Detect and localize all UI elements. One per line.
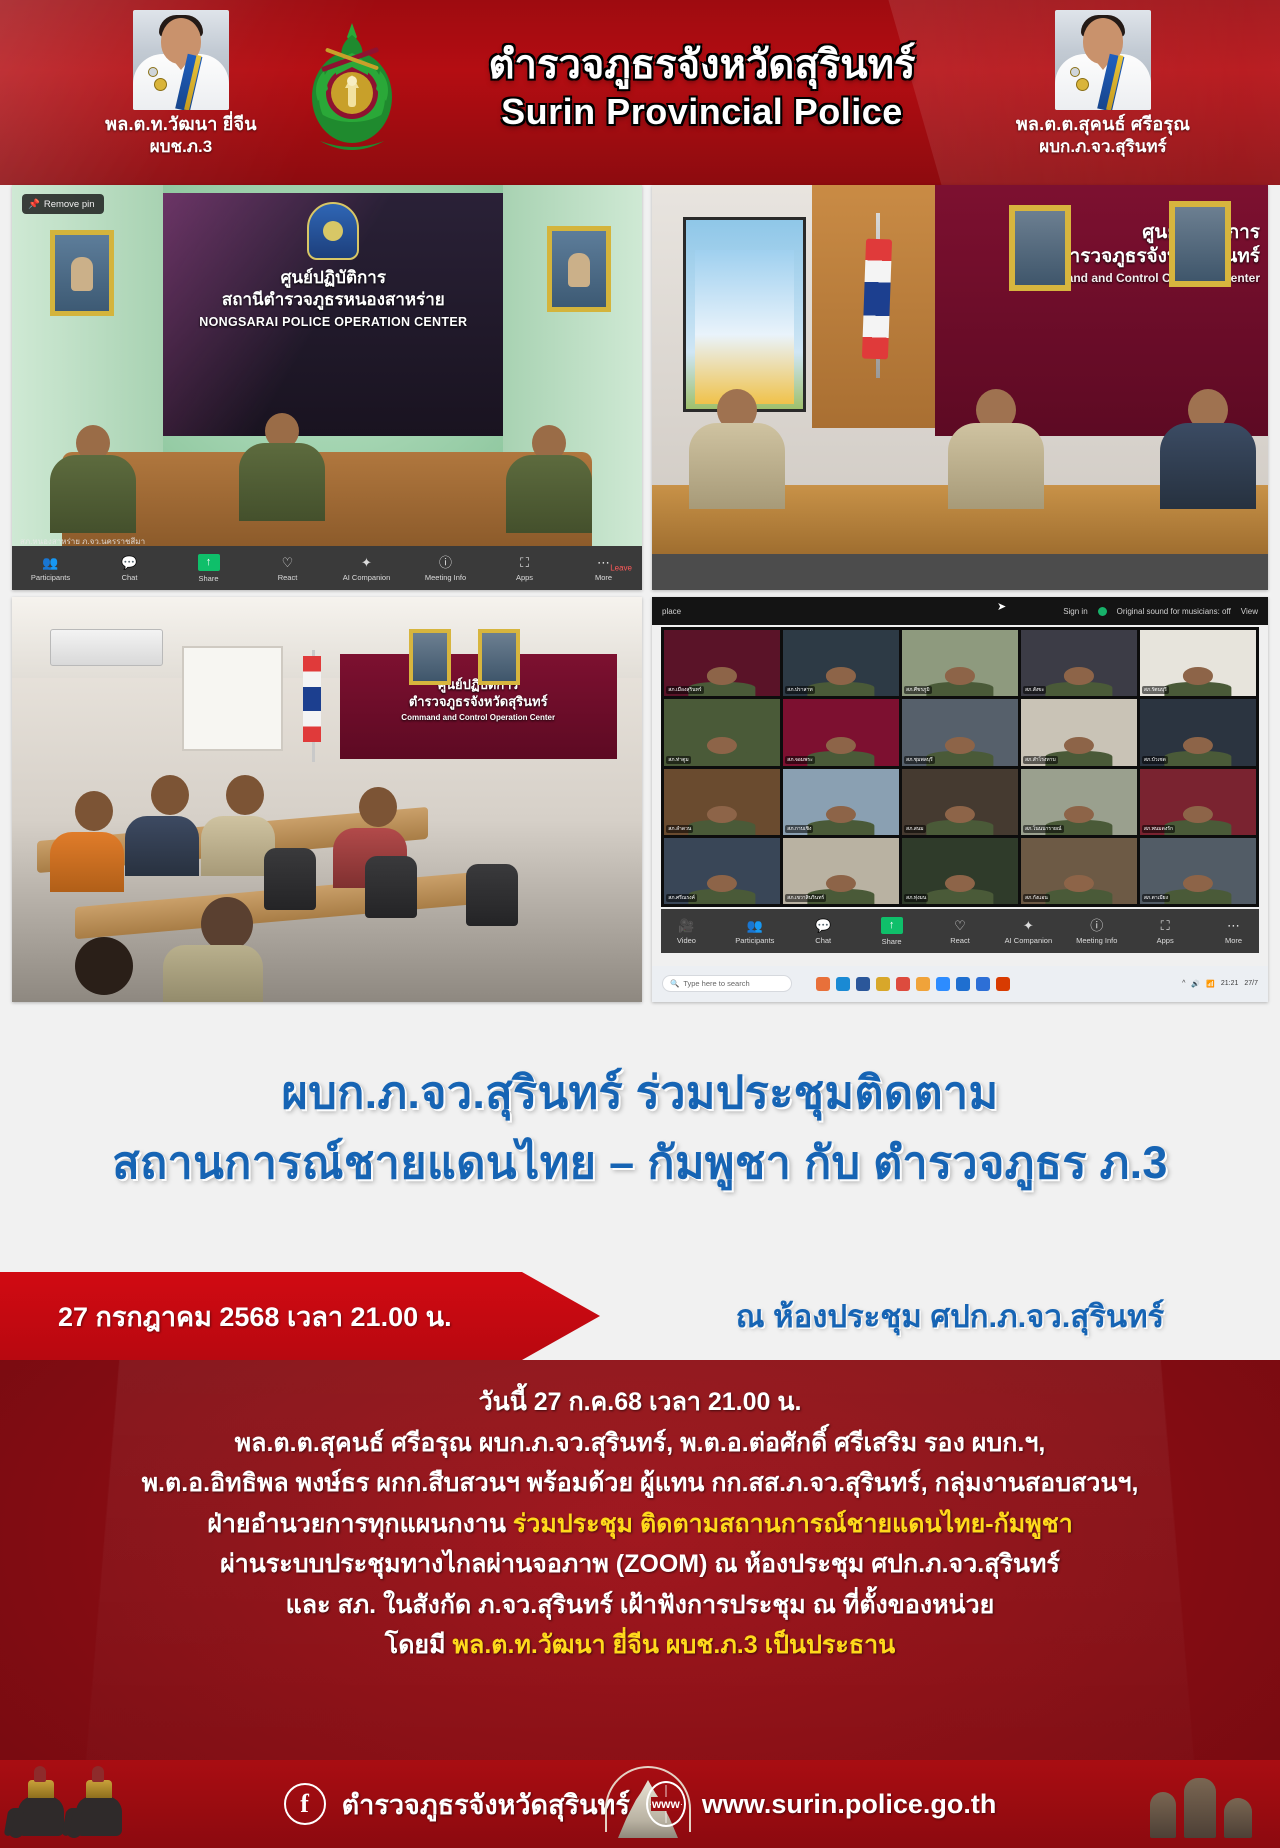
org-title-thai: ตำรวจภูธรจังหวัดสุรินทร์ (424, 43, 980, 88)
officer-portrait-icon-right (1055, 10, 1151, 110)
nongsarai-screen-title-en: NONGSARAI POLICE OPERATION CENTER (163, 314, 503, 330)
zoom-toolbar-label: Apps (1140, 936, 1190, 945)
remove-pin-label: Remove pin (44, 199, 95, 210)
zoom-chat-button[interactable]: 💬Chat (798, 917, 848, 945)
heart-react-icon: ♡ (263, 554, 312, 570)
zoom-participants-button[interactable]: 👥 Participants (26, 554, 75, 582)
zoom-participant-tile[interactable]: สภ.สำโรงทาบ (1021, 699, 1137, 765)
zoom-participant-tile[interactable]: สภ.ศรีณรงค์ (664, 838, 780, 904)
zoom-toolbar-top-left: 👥 Participants 💬 Chat ↑ Share ♡ React ✦ (12, 546, 642, 590)
zoom-video-button[interactable]: 🎥Video (661, 917, 711, 945)
ai-sparkle-icon: ✦ (342, 554, 391, 570)
zoom-window-label: place (662, 607, 681, 616)
photo-bottom-left: ศูนย์ปฏิบัติการ ตำรวจภูธรจังหวัดสุรินทร์… (12, 597, 642, 1002)
main-title-line-1: ผบก.ภ.จว.สุรินทร์ ร่วมประชุมติดตาม (0, 1058, 1280, 1128)
taskbar-app-icon[interactable] (836, 977, 850, 991)
audio-status-icon (1098, 607, 1107, 616)
zoom-participant-name: สภ.บัวเชด (1142, 756, 1168, 764)
zoom-view-button[interactable]: View (1241, 607, 1258, 616)
taskbar-app-icon[interactable] (956, 977, 970, 991)
remove-pin-button[interactable]: 📌 Remove pin (22, 194, 104, 214)
share-screen-icon: ↑ (198, 554, 220, 571)
zoom-toolbar-label: Share (866, 937, 916, 946)
royal-portrait-frame-icon (478, 629, 520, 685)
zoom-chat-button[interactable]: 💬 Chat (105, 554, 154, 582)
zoom-participant-name: สภ.ศีขรภูมิ (904, 686, 932, 694)
taskbar-date: 27/7 (1244, 980, 1258, 987)
chevron-up-icon[interactable]: ^ (1182, 980, 1185, 987)
body-line-prefix: โดยมี (385, 1631, 453, 1659)
zoom-participant-tile[interactable]: สภ.กังแอน (1021, 838, 1137, 904)
zoom-participant-name: สภ.ปราสาท (785, 686, 815, 694)
zoom-participant-name: สภ.พนมดงรัก (1142, 825, 1175, 833)
main-title-block: ผบก.ภ.จว.สุรินทร์ ร่วมประชุมติดตาม สถานก… (0, 1030, 1280, 1260)
main-title-line-2: สถานการณ์ชายแดนไทย – กัมพูชา กับ ตำรวจภู… (0, 1128, 1280, 1198)
info-circle-icon: ⓘ (421, 554, 470, 570)
globe-www-icon: www (646, 1781, 686, 1827)
officer-portrait-icon-left (133, 10, 229, 110)
date-time-text: 27 กรกฎาคม 2568 เวลา 21.00 น. (0, 1295, 452, 1338)
zoom-meeting-info-button[interactable]: ⓘ Meeting Info (421, 554, 470, 582)
zoom-share-button[interactable]: ↑ Share (184, 554, 233, 583)
volume-icon[interactable]: 🔊 (1191, 980, 1200, 988)
wall-portrait-icon (50, 230, 114, 316)
right-officer-block: พล.ต.ต.สุคนธ์ ศรีอรุณ ผบก.ภ.จว.สุรินทร์ (978, 10, 1228, 157)
whiteboard-icon (182, 646, 283, 751)
royal-thai-police-garuda-crest-icon (300, 13, 404, 163)
www-label: www (651, 1797, 681, 1811)
thai-flag-icon (861, 221, 895, 371)
zoom-participant-tile[interactable]: สภ.เมืองสุรินทร์ (664, 630, 780, 696)
pin-icon: 📌 (28, 199, 40, 210)
zoom-participant-tile[interactable]: สภ.สังขะ (1021, 630, 1137, 696)
ai-sparkle-icon: ✦ (1003, 917, 1053, 933)
room-wall-title-en: Command and Control Operation Center (340, 713, 617, 723)
heart-react-icon: ♡ (935, 917, 985, 933)
nongsarai-screen-title-2: สถานีตำรวจภูธรหนองสาหร่าย (163, 289, 503, 311)
zoom-participant-tile[interactable]: สภ.เขวาสินรินทร์ (783, 838, 899, 904)
zoom-apps-button[interactable]: ⛶Apps (1140, 917, 1190, 945)
zoom-participant-name: สภ.กังแอน (1023, 894, 1050, 902)
khmer-ruins-icon (1146, 1766, 1266, 1842)
photo-bottom-right: place ➤ Sign in Original sound for music… (652, 597, 1268, 1002)
zoom-participant-name: สภ.ตาเมียง (1142, 894, 1170, 902)
body-line-prefix: ฝ่ายอำนวยการทุกแผนกงาน (207, 1510, 513, 1538)
zoom-more-button[interactable]: ⋯More (1208, 917, 1258, 945)
zoom-toolbar-bottom-right: 🎥Video👥Participants💬Chat↑Share♡React✦AI … (661, 909, 1259, 954)
apps-icon: ⛶ (1140, 917, 1190, 933)
search-icon: 🔍 (670, 979, 679, 988)
poster-root: พล.ต.ท.วัฒนา ยี่จีน ผบช.ภ.3 (0, 0, 1280, 1848)
taskbar-zoom-icon[interactable] (936, 977, 950, 991)
zoom-participant-tile[interactable]: สภ.โนนนารายณ์ (1021, 769, 1137, 835)
date-banner: 27 กรกฎาคม 2568 เวลา 21.00 น. ณ ห้องประช… (0, 1272, 1280, 1360)
facebook-circle-icon[interactable]: f (284, 1783, 326, 1825)
royal-portrait-frame-icon (1009, 205, 1071, 291)
more-dots-icon: ⋯ (1208, 917, 1258, 933)
zoom-participant-name: สภ.สำโรงทาบ (1023, 756, 1058, 764)
facebook-page-label: ตำรวจภูธรจังหวัดสุรินทร์ (342, 1783, 630, 1826)
zoom-toolbar-label: Participants (730, 936, 780, 945)
zoom-participant-name: สภ.ศรีณรงค์ (666, 894, 697, 902)
zoom-participant-tile[interactable]: สภ.ปราสาท (783, 630, 899, 696)
surin-elephants-icon (14, 1766, 144, 1842)
left-officer-name: พล.ต.ท.วัฒนา ยี่จีน (56, 114, 306, 136)
body-line-3: พ.ต.อ.อิทธิพล พงษ์ธร ผกก.สืบสวนฯ พร้อมด้… (0, 1463, 1280, 1504)
chat-icon: 💬 (798, 917, 848, 933)
video-camera-icon: 🎥 (661, 917, 711, 933)
zoom-participant-name: สภ.รัตนบุรี (1142, 686, 1169, 694)
date-chip: 27 กรกฎาคม 2568 เวลา 21.00 น. (0, 1272, 600, 1360)
nongsarai-screen-title-1: ศูนย์ปฏิบัติการ (163, 267, 503, 289)
zoom-participant-tile[interactable]: สภ.ลำดวน (664, 769, 780, 835)
taskbar-clock: 21:21 (1221, 980, 1239, 987)
zoom-participant-tile[interactable]: สภ.ท่าตูม (664, 699, 780, 765)
zoom-toolbar-label: More (1208, 936, 1258, 945)
zoom-react-button[interactable]: ♡React (935, 917, 985, 945)
taskbar-app-icons (816, 977, 1010, 991)
royal-portrait-frame-icon (409, 629, 451, 685)
zoom-participant-tile[interactable]: สภ.ชุมพลบุรี (902, 699, 1018, 765)
header-center: ตำรวจภูธรจังหวัดสุรินทร์ Surin Provincia… (300, 8, 980, 168)
zoom-participant-name: สภ.ท่าตูม (666, 756, 690, 764)
right-officer-rank: ผบก.ภ.จว.สุรินทร์ (978, 136, 1228, 157)
photo-grid: ศูนย์ปฏิบัติการ สถานีตำรวจภูธรหนองสาหร่า… (12, 185, 1268, 1015)
photo-top-right: ศูนย์ปฏิบัติการ ตำรวจภูธรจังหวัดสุรินทร์… (652, 185, 1268, 590)
room-wall-title-2: ตำรวจภูธรจังหวัดสุรินทร์ (340, 694, 617, 711)
body-red-section: วันนี้ 27 ก.ค.68 เวลา 21.00 น.พล.ต.ต.สุค… (0, 1360, 1280, 1760)
zoom-participant-tile[interactable]: สภ.บัวเชด (1140, 699, 1256, 765)
zoom-apps-button[interactable]: ⛶ Apps (500, 554, 549, 582)
zoom-participant-tile[interactable]: สภ.สนม (902, 769, 1018, 835)
apps-icon: ⛶ (500, 554, 549, 570)
zoom-participant-tile[interactable]: สภ.พนมดงรัก (1140, 769, 1256, 835)
zoom-participant-name: สภ.โนนนารายณ์ (1023, 825, 1064, 833)
zoom-participant-name: สภ.สนม (904, 825, 926, 833)
info-circle-icon: ⓘ (1072, 917, 1122, 933)
zoom-leave-button[interactable]: Leave (610, 564, 632, 573)
body-line-4: ฝ่ายอำนวยการทุกแผนกงาน ร่วมประชุม ติดตาม… (0, 1504, 1280, 1545)
body-line-5: ผ่านระบบประชุมทางไกลผ่านจอภาพ (ZOOM) ณ ห… (0, 1544, 1280, 1585)
taskbar-search-input[interactable]: 🔍 Type here to search (662, 975, 792, 992)
location-text: ณ ห้องประชุม ศปก.ภ.จว.สุรินทร์ (620, 1272, 1280, 1360)
police-badge-icon (307, 202, 359, 260)
zoom-participant-name: สภ.สังขะ (1023, 686, 1046, 694)
body-line-7: โดยมี พล.ต.ท.วัฒนา ยี่จีน ผบช.ภ.3 เป็นปร… (0, 1625, 1280, 1666)
zoom-participant-name: สภ.ชุมพลบุรี (904, 756, 935, 764)
zoom-participant-name: สภ.เมืองสุรินทร์ (666, 686, 703, 694)
zoom-audio-label: Original sound for musicians: off (1117, 607, 1231, 616)
body-line-1: วันนี้ 27 ก.ค.68 เวลา 21.00 น. (0, 1382, 1280, 1423)
left-officer-rank: ผบช.ภ.3 (56, 136, 306, 157)
wall-poster-icon (695, 250, 794, 404)
wall-portrait-icon (547, 226, 611, 312)
chat-icon: 💬 (105, 554, 154, 570)
taskbar-app-icon[interactable] (816, 977, 830, 991)
zoom-toolbar-label: AI Companion (1003, 936, 1053, 945)
share-screen-icon: ↑ (881, 917, 903, 934)
body-line-highlight: พล.ต.ท.วัฒนา ยี่จีน ผบช.ภ.3 เป็นประธาน (453, 1631, 896, 1659)
zoom-toolbar-label: Video (661, 936, 711, 945)
taskbar-system-tray[interactable]: ^ 🔊 📶 21:21 27/7 (1182, 980, 1258, 988)
body-line-6: และ สภ. ในสังกัด ภ.จว.สุรินทร์ เฝ้าฟังกา… (0, 1585, 1280, 1626)
zoom-share-button[interactable]: ↑Share (866, 917, 916, 946)
body-lines: วันนี้ 27 ก.ค.68 เวลา 21.00 น.พล.ต.ต.สุค… (0, 1360, 1280, 1666)
zoom-participant-tile[interactable]: สภ.ศีขรภูมิ (902, 630, 1018, 696)
taskbar-app-icon[interactable] (896, 977, 910, 991)
zoom-participant-tile[interactable]: สภ.รัตนบุรี (1140, 630, 1256, 696)
zoom-participant-tile[interactable]: สภ.ทุ่งมน (902, 838, 1018, 904)
mouse-cursor-icon: ➤ (997, 600, 1006, 613)
network-icon[interactable]: 📶 (1206, 980, 1215, 988)
right-officer-name: พล.ต.ต.สุคนธ์ ศรีอรุณ (978, 114, 1228, 136)
zoom-participant-name: สภ.กาบเชิง (785, 825, 813, 833)
photo-top-left: ศูนย์ปฏิบัติการ สถานีตำรวจภูธรหนองสาหร่า… (12, 185, 642, 590)
zoom-toolbar-label: Meeting Info (1072, 936, 1122, 945)
body-line-highlight: ร่วมประชุม ติดตามสถานการณ์ชายแดนไทย-กัมพ… (513, 1510, 1073, 1538)
taskbar-search-placeholder: Type here to search (683, 979, 749, 988)
zoom-participants-button[interactable]: 👥Participants (730, 917, 780, 945)
royal-portrait-frame-icon (1169, 201, 1231, 287)
zoom-window-topbar: place ➤ Sign in Original sound for music… (652, 597, 1268, 625)
org-title-english: Surin Provincial Police (424, 90, 980, 133)
air-conditioner-icon (50, 629, 163, 665)
zoom-gallery-grid: สภ.เมืองสุรินทร์สภ.ปราสาทสภ.ศีขรภูมิสภ.ส… (661, 627, 1259, 906)
participants-icon: 👥 (26, 554, 75, 570)
left-officer-block: พล.ต.ท.วัฒนา ยี่จีน ผบช.ภ.3 (56, 10, 306, 157)
taskbar-app-icon[interactable] (916, 977, 930, 991)
zoom-participant-name: สภ.ลำดวน (666, 825, 693, 833)
zoom-participant-tile[interactable]: สภ.ตาเมียง (1140, 838, 1256, 904)
zoom-ai-companion-button[interactable]: ✦AI Companion (1003, 917, 1053, 945)
page-footer: f ตำรวจภูธรจังหวัดสุรินทร์ www www.surin… (0, 1760, 1280, 1848)
taskbar-app-icon[interactable] (976, 977, 990, 991)
windows-taskbar: 🔍 Type here to search (652, 966, 1268, 1002)
taskbar-app-icon[interactable] (996, 977, 1010, 991)
zoom-react-button[interactable]: ♡ React (263, 554, 312, 582)
zoom-ai-companion-button[interactable]: ✦ AI Companion (342, 554, 391, 582)
zoom-participant-name: สภ.ทุ่งมน (904, 894, 928, 902)
zoom-meeting-info-button[interactable]: ⓘMeeting Info (1072, 917, 1122, 945)
zoom-toolbar-label: Chat (798, 936, 848, 945)
zoom-toolbar-label: React (935, 936, 985, 945)
zoom-participant-name: สภ.จอมพระ (785, 756, 815, 764)
header-titles: ตำรวจภูธรจังหวัดสุรินทร์ Surin Provincia… (418, 43, 980, 133)
participants-icon: 👥 (730, 917, 780, 933)
zoom-sign-in-link[interactable]: Sign in (1063, 607, 1087, 616)
zoom-participant-tile[interactable]: สภ.กาบเชิง (783, 769, 899, 835)
body-line-2: พล.ต.ต.สุคนธ์ ศรีอรุณ ผบก.ภ.จว.สุรินทร์,… (0, 1423, 1280, 1464)
website-url[interactable]: www.surin.police.go.th (702, 1789, 997, 1820)
zoom-participant-name: สภ.เขวาสินรินทร์ (785, 894, 826, 902)
thai-flag-icon (302, 650, 324, 760)
zoom-participant-tile[interactable]: สภ.จอมพระ (783, 699, 899, 765)
taskbar-app-icon[interactable] (876, 977, 890, 991)
page-header: พล.ต.ท.วัฒนา ยี่จีน ผบช.ภ.3 (0, 0, 1280, 185)
taskbar-app-icon[interactable] (856, 977, 870, 991)
